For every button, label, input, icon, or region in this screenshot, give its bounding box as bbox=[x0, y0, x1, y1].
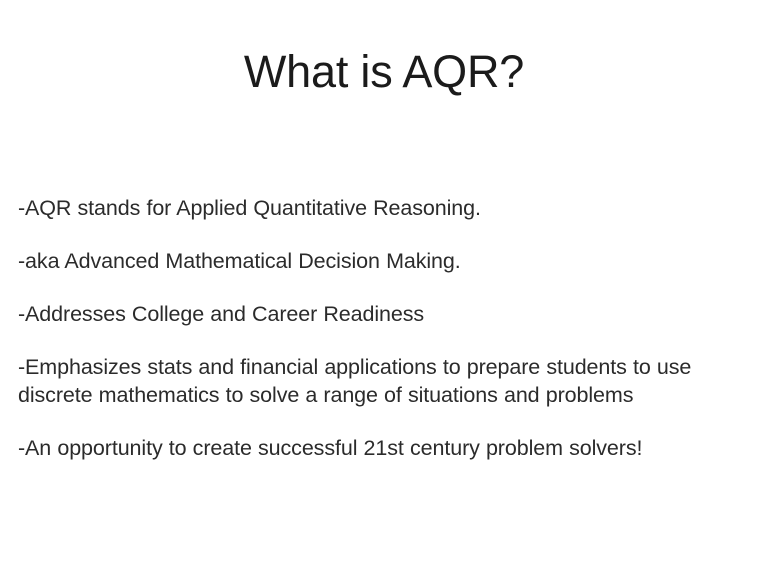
list-item: -Emphasizes stats and financial applicat… bbox=[18, 353, 718, 409]
page-title: What is AQR? bbox=[0, 44, 768, 100]
list-item: -aka Advanced Mathematical Decision Maki… bbox=[18, 247, 740, 275]
bullet-list: -AQR stands for Applied Quantitative Rea… bbox=[18, 194, 740, 462]
presentation-slide: What is AQR? -AQR stands for Applied Qua… bbox=[0, 0, 768, 561]
list-item: -An opportunity to create successful 21s… bbox=[18, 434, 740, 462]
list-item: -AQR stands for Applied Quantitative Rea… bbox=[18, 194, 740, 222]
list-item: -Addresses College and Career Readiness bbox=[18, 300, 740, 328]
